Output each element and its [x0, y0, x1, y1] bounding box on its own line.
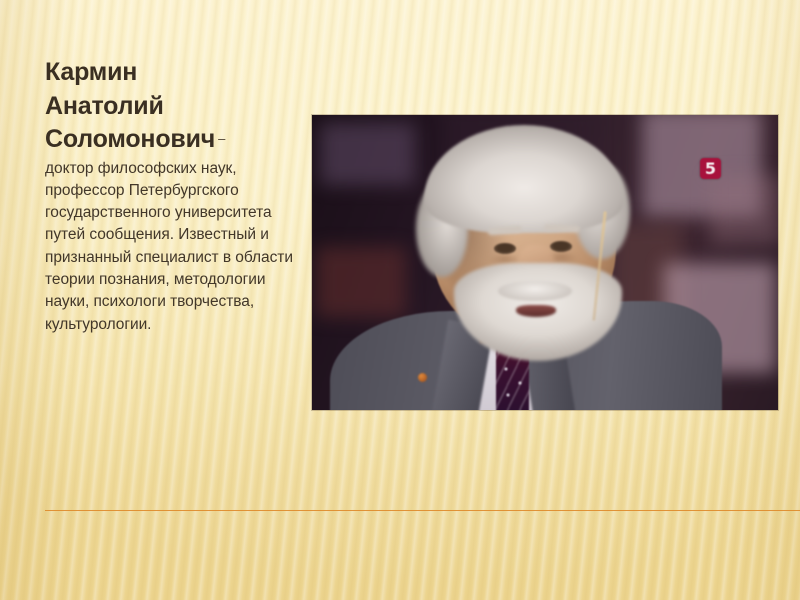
eye-right — [550, 241, 572, 252]
title-line-3: Соломонович — [45, 125, 215, 153]
title-dash: – — [215, 131, 225, 146]
page-title: Кармин Анатолий Соломонович– — [45, 56, 297, 157]
lapel-pin — [418, 373, 427, 382]
channel-five-logo-icon: 5 — [700, 158, 721, 179]
mouth — [516, 305, 556, 317]
portrait-photo: 5 — [312, 115, 778, 410]
horizontal-divider — [45, 510, 800, 511]
title-line-2: Анатолий — [45, 92, 164, 120]
text-column: Кармин Анатолий Соломонович– доктор фило… — [45, 56, 297, 336]
mustache — [498, 281, 572, 301]
biography-text: доктор философских наук, профессор Петер… — [45, 158, 297, 337]
hair — [424, 125, 624, 233]
eye-left — [494, 243, 516, 254]
presentation-slide: Кармин Анатолий Соломонович– доктор фило… — [0, 0, 800, 600]
title-line-1: Кармин — [45, 58, 137, 86]
photo-inner: 5 — [312, 115, 778, 410]
